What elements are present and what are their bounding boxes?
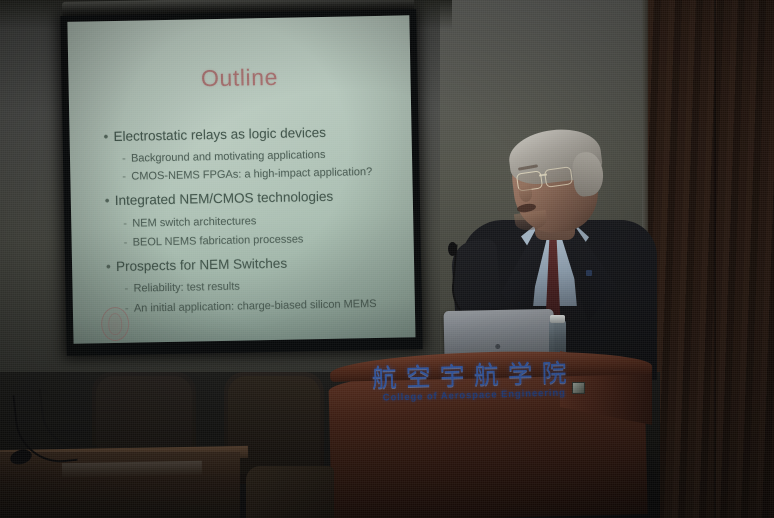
wood-panel-seam	[714, 0, 716, 518]
slide-subbullet-1-2-text: CMOS-NEMS FPGAs: a high-impact applicati…	[131, 166, 372, 183]
screen-frame: Outline •Electrostatic relays as logic d…	[60, 9, 422, 356]
subbullet-marker: -	[124, 237, 133, 249]
podium-name-plate-icon	[572, 382, 585, 394]
subbullet-marker: -	[124, 283, 133, 295]
subbullet-marker: -	[122, 153, 131, 165]
projected-slide: Outline •Electrostatic relays as logic d…	[67, 15, 415, 344]
podium-signage: 航空宇航学院 College of Aerospace Engineering	[337, 352, 611, 420]
chair-right-armrest	[246, 466, 334, 518]
slide-bullet-1: •Electrostatic relays as logic devices	[103, 125, 326, 144]
lapel-pin-icon	[586, 270, 592, 276]
eyeglasses-lens-right-icon	[544, 166, 573, 188]
bottle-cap	[550, 315, 565, 323]
subbullet-marker: -	[123, 218, 132, 230]
bullet-marker: •	[105, 193, 115, 208]
laptop[interactable]	[444, 309, 555, 357]
projection-screen: Outline •Electrostatic relays as logic d…	[60, 0, 429, 362]
slide-subbullet-2-1-text: NEM switch architectures	[132, 215, 256, 229]
bullet-marker: •	[106, 259, 116, 274]
bullet-marker: •	[103, 129, 113, 144]
slide-subbullet-3-1-text: Reliability: test results	[133, 281, 240, 295]
institutional-seal-icon	[101, 307, 130, 342]
slide-subbullet-1-1: -Background and motivating applications	[122, 149, 326, 165]
slide-subbullet-1-2: -CMOS-NEMS FPGAs: a high-impact applicat…	[122, 166, 372, 183]
wood-wall-panel	[648, 0, 774, 518]
slide-subbullet-2-1: -NEM switch architectures	[123, 215, 256, 230]
screen-surface: Outline •Electrostatic relays as logic d…	[67, 15, 415, 344]
slide-subbullet-2-2: -BEOL NEMS fabrication processes	[124, 233, 304, 248]
slide-bullet-3-text: Prospects for NEM Switches	[116, 256, 287, 274]
slide-subbullet-2-2-text: BEOL NEMS fabrication processes	[133, 233, 304, 248]
slide-bullet-1-text: Electrostatic relays as logic devices	[113, 125, 326, 144]
slide-title: Outline	[68, 61, 410, 95]
presentation-photo: Outline •Electrostatic relays as logic d…	[0, 0, 774, 518]
slide-bullet-2-text: Integrated NEM/CMOS technologies	[115, 189, 334, 208]
table-glass-surface	[62, 461, 202, 477]
slide-subbullet-3-2-text: An initial application: charge-biased si…	[134, 298, 377, 315]
slide-subbullet-3-1: -Reliability: test results	[124, 281, 240, 295]
slide-subbullet-3-2: -An initial application: charge-biased s…	[125, 298, 377, 315]
slide-bullet-3: •Prospects for NEM Switches	[106, 256, 287, 274]
subbullet-marker: -	[122, 171, 131, 183]
slide-subbullet-1-1-text: Background and motivating applications	[131, 149, 326, 165]
microphone-icon	[448, 242, 457, 256]
slide-bullet-2: •Integrated NEM/CMOS technologies	[105, 189, 334, 208]
